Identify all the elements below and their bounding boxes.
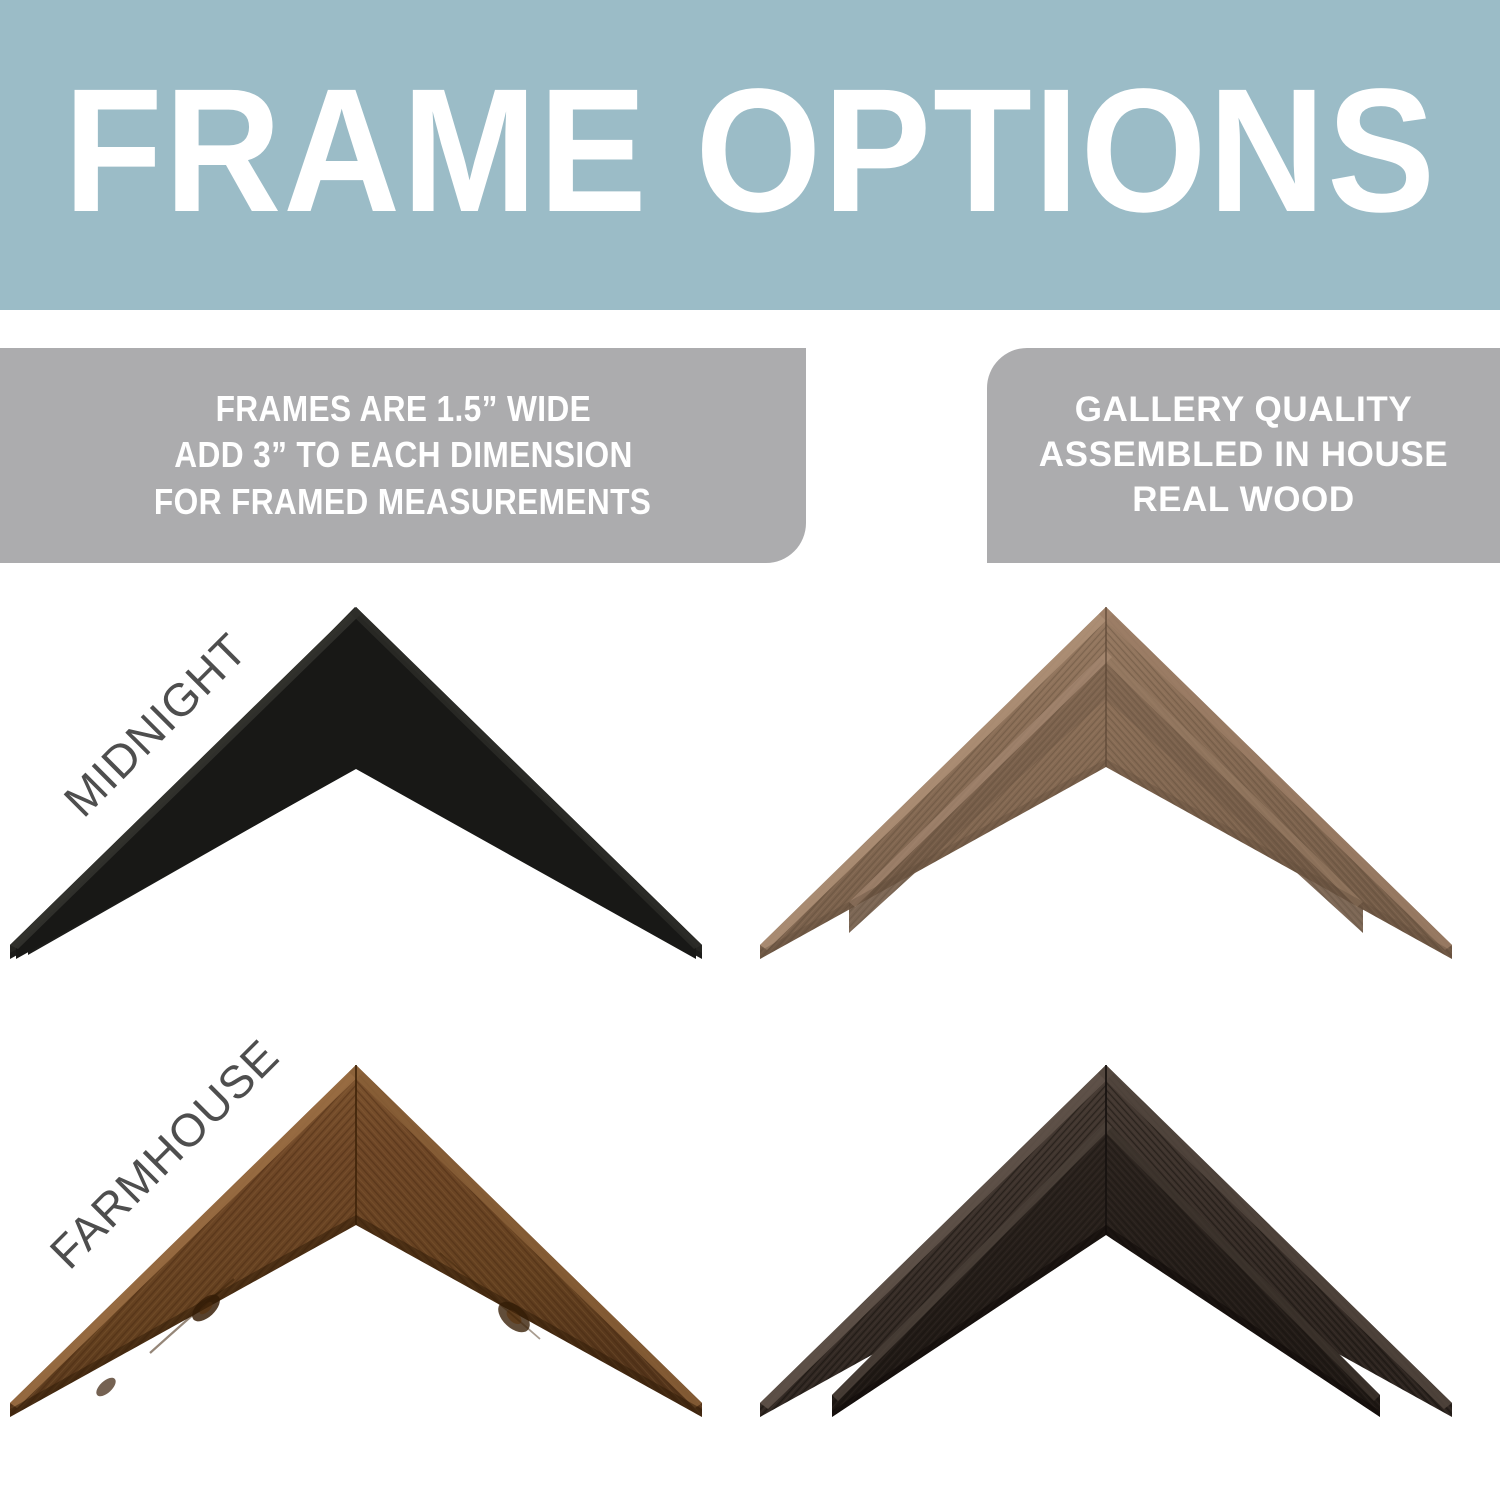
frame-corner-charcoal: CHARCOAL (750, 1043, 1500, 1443)
frame-option-charcoal[interactable]: CHARCOAL (750, 1043, 1500, 1501)
page-title: FRAME OPTIONS (63, 68, 1436, 235)
info-box-measurements-lines: FRAMES ARE 1.5” WIDE ADD 3” TO EACH DIME… (120, 386, 685, 524)
frame-option-driftwood[interactable]: DRIFTWOOD (750, 585, 1500, 1043)
info-line: ADD 3” TO EACH DIMENSION (174, 432, 632, 478)
frame-chevron-driftwood-icon (760, 607, 1460, 957)
frame-option-midnight[interactable]: MIDNIGHT (0, 585, 750, 1043)
info-line: GALLERY QUALITY (1075, 388, 1413, 433)
info-line: FRAMES ARE 1.5” WIDE (215, 386, 591, 432)
frame-option-farmhouse[interactable]: FARMHOUSE (0, 1043, 750, 1501)
frame-corner-midnight: MIDNIGHT (0, 585, 750, 985)
frame-corner-driftwood: DRIFTWOOD (750, 585, 1500, 985)
info-box-measurements: FRAMES ARE 1.5” WIDE ADD 3” TO EACH DIME… (0, 348, 806, 563)
frame-options-grid: MIDNIGHT (0, 585, 1500, 1500)
header-banner: FRAME OPTIONS (0, 0, 1500, 310)
info-box-quality: GALLERY QUALITY ASSEMBLED IN HOUSE REAL … (987, 348, 1500, 563)
frame-corner-farmhouse: FARMHOUSE (0, 1043, 750, 1443)
info-box-quality-lines: GALLERY QUALITY ASSEMBLED IN HOUSE REAL … (1039, 388, 1448, 522)
info-line: REAL WOOD (1132, 478, 1355, 523)
frame-chevron-charcoal-icon (760, 1065, 1460, 1415)
info-line: ASSEMBLED IN HOUSE (1039, 433, 1448, 478)
info-line: FOR FRAMED MEASUREMENTS (154, 479, 651, 525)
